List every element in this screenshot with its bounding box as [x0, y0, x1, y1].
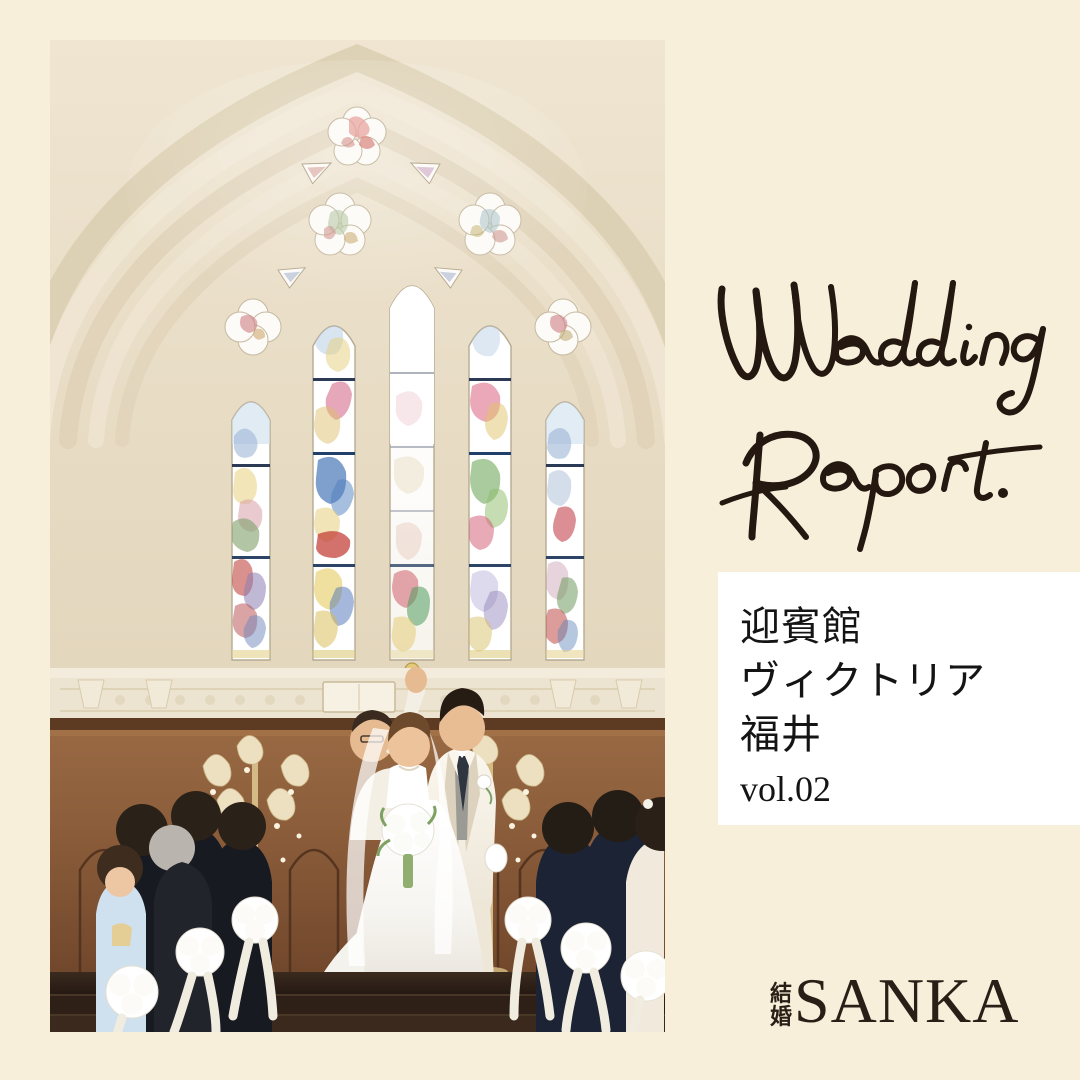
brand-logo-kanji-top: 結	[770, 982, 792, 1005]
brand-logo-kanji: 結 婚	[770, 982, 792, 1030]
brand-logo: 結 婚 SANKA	[770, 966, 1019, 1030]
venue-name-line-1: 迎賓館	[740, 600, 1080, 654]
script-title-wedding-report: Wedding Report.	[700, 255, 1070, 555]
brand-logo-kanji-bottom: 婚	[770, 1005, 792, 1028]
venue-name-line-3: 福井	[740, 708, 1080, 762]
wedding-ceremony-photo	[50, 40, 665, 1032]
poster-canvas: Wedding Report.	[0, 0, 1080, 1080]
volume-label: vol.02	[740, 762, 1080, 816]
venue-name-line-2: ヴィクトリア	[740, 654, 1080, 708]
venue-info-box: 迎賓館 ヴィクトリア 福井 vol.02	[718, 572, 1080, 825]
brand-logo-wordmark: SANKA	[794, 972, 1019, 1030]
